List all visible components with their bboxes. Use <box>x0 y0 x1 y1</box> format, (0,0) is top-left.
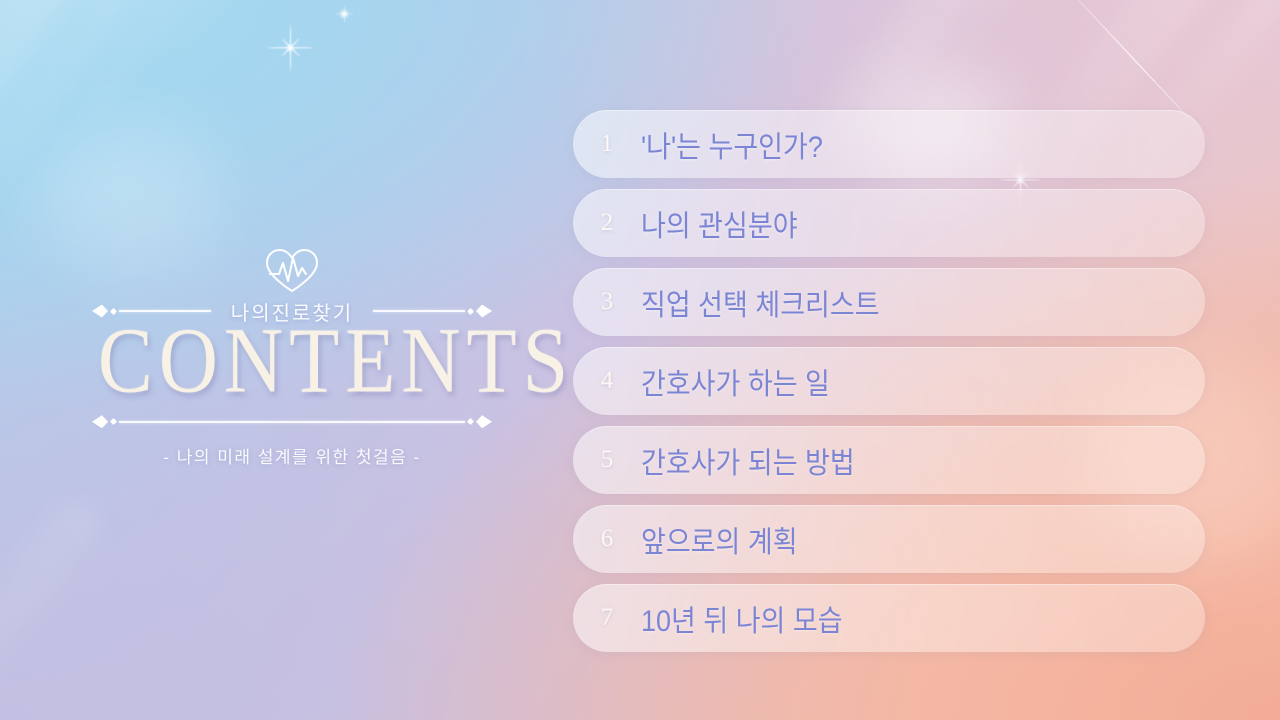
contents-item-number: 4 <box>573 367 641 395</box>
sparkle-ray <box>340 10 348 18</box>
contents-item-7[interactable]: 710년 뒤 나의 모습 <box>573 584 1205 652</box>
subtitle-text: - 나의 미래 설계를 위한 첫걸음 - <box>92 443 492 468</box>
diamond-dot-icon <box>467 418 474 425</box>
diamond-dot-icon <box>110 418 117 425</box>
sparkle-ray <box>267 47 313 48</box>
sparkle-ray <box>340 10 348 18</box>
contents-item-2[interactable]: 2나의 관심분야 <box>573 189 1205 257</box>
contents-item-label: '나'는 누구인가? <box>641 123 823 166</box>
contents-item-5[interactable]: 5간호사가 되는 방법 <box>573 426 1205 494</box>
contents-item-number: 2 <box>573 209 641 237</box>
divider-bottom <box>92 413 492 431</box>
title-block: 나의진로찾기 CONTENTS - 나의 미래 설계를 위한 첫걸음 - <box>92 246 492 468</box>
light-streak-decoration <box>150 0 355 76</box>
contents-item-3[interactable]: 3직업 선택 체크리스트 <box>573 268 1205 336</box>
contents-item-label: 직업 선택 체크리스트 <box>641 281 880 324</box>
light-streak-decoration <box>0 0 121 275</box>
contents-item-number: 7 <box>573 604 641 632</box>
contents-item-number: 1 <box>573 130 641 158</box>
sparkle-core <box>287 45 293 51</box>
contents-item-number: 3 <box>573 288 641 316</box>
contents-list: 1'나'는 누구인가?2나의 관심분야3직업 선택 체크리스트4간호사가 하는 … <box>573 110 1205 663</box>
contents-item-number: 5 <box>573 446 641 474</box>
heart-pulse-icon <box>261 246 323 296</box>
leaf-ornament-icon <box>92 415 108 428</box>
page-title: CONTENTS <box>92 316 492 406</box>
sparkle-ray <box>281 39 300 58</box>
light-streak-decoration <box>912 0 1142 95</box>
contents-item-6[interactable]: 6앞으로의 계획 <box>573 505 1205 573</box>
light-streak-decoration <box>0 491 109 720</box>
contents-item-label: 10년 뒤 나의 모습 <box>641 597 843 640</box>
contents-item-label: 앞으로의 계획 <box>641 518 798 561</box>
light-streak-decoration <box>63 0 298 127</box>
contents-item-label: 간호사가 되는 방법 <box>641 439 855 482</box>
divider-line <box>119 421 465 423</box>
contents-item-label: 간호사가 하는 일 <box>641 360 830 403</box>
light-streak-decoration <box>0 0 211 224</box>
slide-canvas: 나의진로찾기 CONTENTS - 나의 미래 설계를 위한 첫걸음 - 1'나… <box>0 0 1280 720</box>
contents-item-1[interactable]: 1'나'는 누구인가? <box>573 110 1205 178</box>
contents-item-label: 나의 관심분야 <box>641 202 798 245</box>
sparkle-core <box>341 11 347 17</box>
sparkle-ray <box>344 5 345 23</box>
contents-item-number: 6 <box>573 525 641 553</box>
sparkle-ray <box>281 39 300 58</box>
sparkle-ray <box>290 25 291 71</box>
sparkle-ray <box>335 13 353 14</box>
leaf-ornament-icon <box>476 415 492 428</box>
contents-item-4[interactable]: 4간호사가 하는 일 <box>573 347 1205 415</box>
